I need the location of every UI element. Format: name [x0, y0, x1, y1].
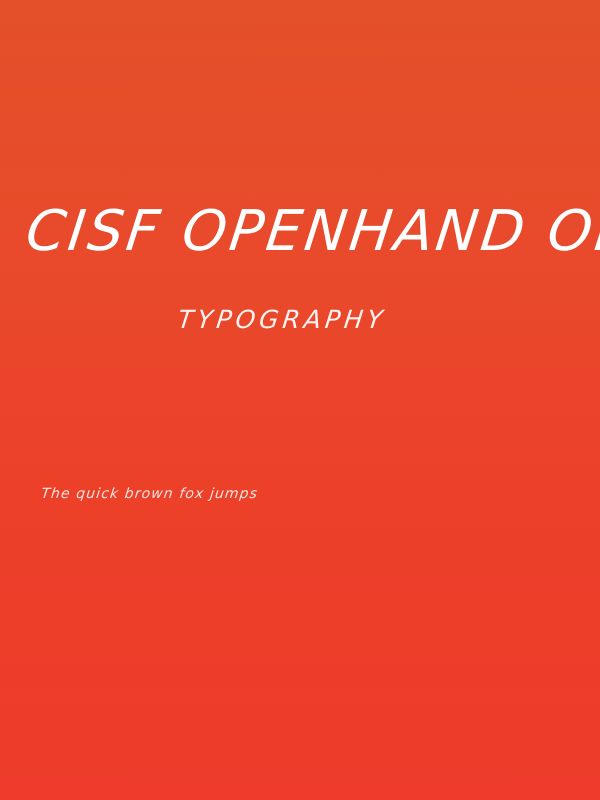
specimen-title: CISF OPENHAND OBLIQUE [22, 196, 600, 268]
specimen-sample-text: The quick brown fox jumps [40, 483, 259, 505]
font-specimen-poster: CISF OPENHAND OBLIQUE TYPOGRAPHY The qui… [0, 0, 600, 800]
specimen-title-row: CISF OPENHAND OBLIQUE [0, 196, 600, 268]
specimen-subtitle: TYPOGRAPHY [0, 303, 564, 337]
